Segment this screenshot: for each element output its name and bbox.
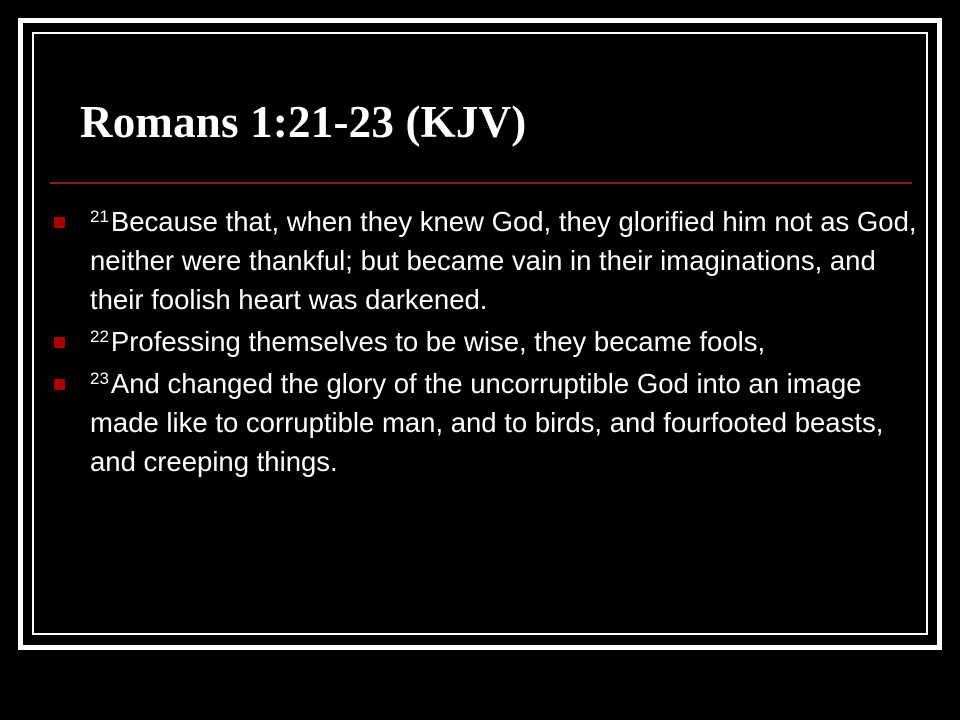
verse-number: 23 — [90, 369, 111, 388]
verse-bullet-list: 21Because that, when they knew God, they… — [48, 202, 920, 484]
square-bullet-icon — [54, 379, 65, 390]
slide-content-area: Romans 1:21-23 (KJV) 21Because that, whe… — [34, 34, 926, 633]
list-item: 22Professing themselves to be wise, they… — [48, 322, 920, 361]
slide-canvas: Romans 1:21-23 (KJV) 21Because that, whe… — [0, 0, 960, 720]
square-bullet-icon — [54, 217, 65, 228]
verse-text: Professing themselves to be wise, they b… — [111, 326, 765, 357]
slide-title: Romans 1:21-23 (KJV) — [80, 96, 900, 148]
verse-number: 22 — [90, 327, 111, 346]
square-bullet-icon — [54, 337, 65, 348]
verse-text: Because that, when they knew God, they g… — [90, 206, 917, 315]
list-item: 21Because that, when they knew God, they… — [48, 202, 920, 319]
title-divider-rule — [50, 182, 912, 184]
verse-number: 21 — [90, 207, 111, 226]
list-item: 23And changed the glory of the uncorrupt… — [48, 364, 920, 481]
verse-text: And changed the glory of the uncorruptib… — [90, 368, 883, 477]
